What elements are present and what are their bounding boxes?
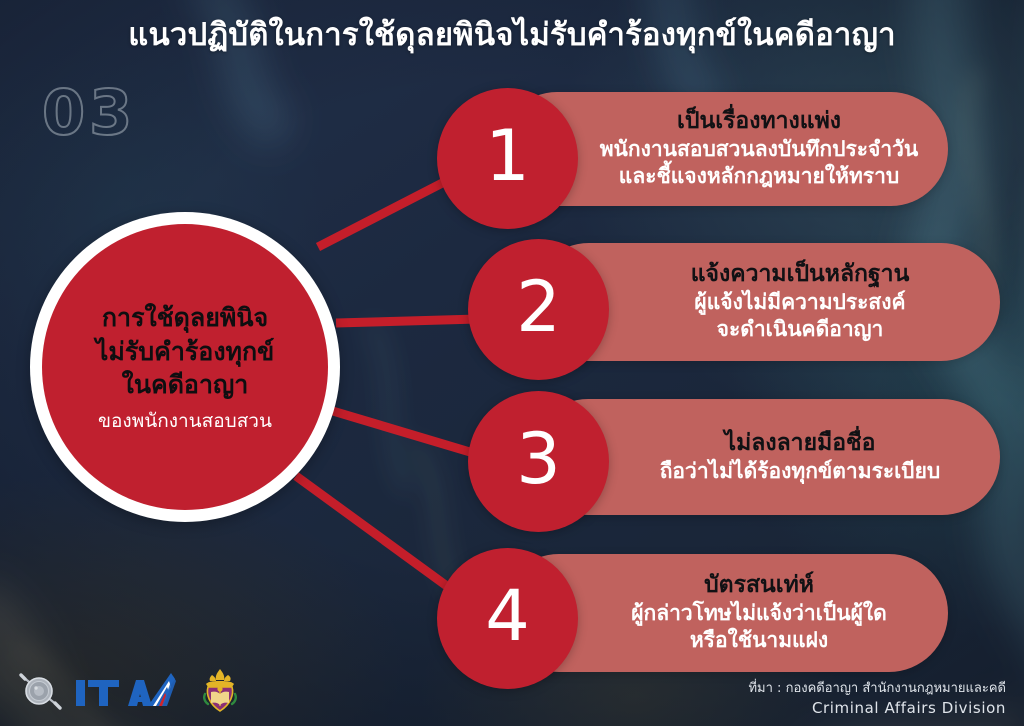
item-3-number: 3 <box>516 424 561 494</box>
item-4-number: 4 <box>485 581 530 651</box>
item-4-body-line-1: ผู้กล่าวโทษไม่แจ้งว่าเป็นผู้ใด <box>631 600 887 627</box>
connector-line-3 <box>326 409 480 455</box>
footer-source-english: Criminal Affairs Division <box>748 698 1006 718</box>
item-4-number-circle[interactable]: 4 <box>437 548 578 689</box>
center-hub-circle: การใช้ดุลยพินิจ ไม่รับคำร้องทุกข์ ในคดีอ… <box>30 212 340 522</box>
item-2-body-line-1: ผู้แจ้งไม่มีความประสงค์ <box>694 289 905 316</box>
item-4-body-line-2: หรือใช้นามแฝง <box>690 627 828 654</box>
footer-credit: ที่มา : กองคดีอาญา สำนักงานกฎหมายและคดี … <box>748 680 1006 718</box>
royal-seal-medal-logo <box>16 669 64 713</box>
royal-thai-police-emblem-logo <box>199 668 241 714</box>
footer-logos <box>16 668 241 714</box>
center-hub-inner: การใช้ดุลยพินิจ ไม่รับคำร้องทุกข์ ในคดีอ… <box>42 224 328 510</box>
hub-subtitle: ของพนักงานสอบสวน <box>98 410 272 433</box>
connector-line-2 <box>336 319 478 323</box>
infographic-canvas: แนวปฏิบัติในการใช้ดุลยพินิจไม่รับคำร้องท… <box>0 0 1024 726</box>
hub-line-3: ในคดีอาญา <box>122 368 249 402</box>
connector-line-4 <box>296 476 466 600</box>
item-1-number: 1 <box>485 121 530 191</box>
item-1-body-line-2: และชี้แจงหลักกฎหมายให้ทราบ <box>619 163 899 190</box>
item-3-number-circle[interactable]: 3 <box>468 391 609 532</box>
item-3-headline: ไม่ลงลายมือชื่อ <box>725 429 876 458</box>
hub-line-2: ไม่รับคำร้องทุกข์ <box>96 335 274 369</box>
connector-line-1 <box>318 178 452 247</box>
item-1-number-circle[interactable]: 1 <box>437 88 578 229</box>
item-2-headline: แจ้งความเป็นหลักฐาน <box>691 260 910 289</box>
hub-line-1: การใช้ดุลยพินิจ <box>102 301 268 335</box>
item-4-headline: บัตรสนเท่ห์ <box>704 571 814 600</box>
item-3-body-line-1: ถือว่าไม่ได้ร้องทุกข์ตามระเบียบ <box>660 458 941 485</box>
item-1-body-line-1: พนักงานสอบสวนลงบันทึกประจำวัน <box>600 136 919 163</box>
footer-source-thai: ที่มา : กองคดีอาญา สำนักงานกฎหมายและคดี <box>748 680 1006 698</box>
item-2-body-line-2: จะดำเนินคดีอาญา <box>717 316 884 343</box>
item-2-number-circle[interactable]: 2 <box>468 239 609 380</box>
item-1-headline: เป็นเรื่องทางแพ่ง <box>677 107 841 136</box>
item-2-number: 2 <box>516 272 561 342</box>
ita-logo <box>74 671 189 711</box>
